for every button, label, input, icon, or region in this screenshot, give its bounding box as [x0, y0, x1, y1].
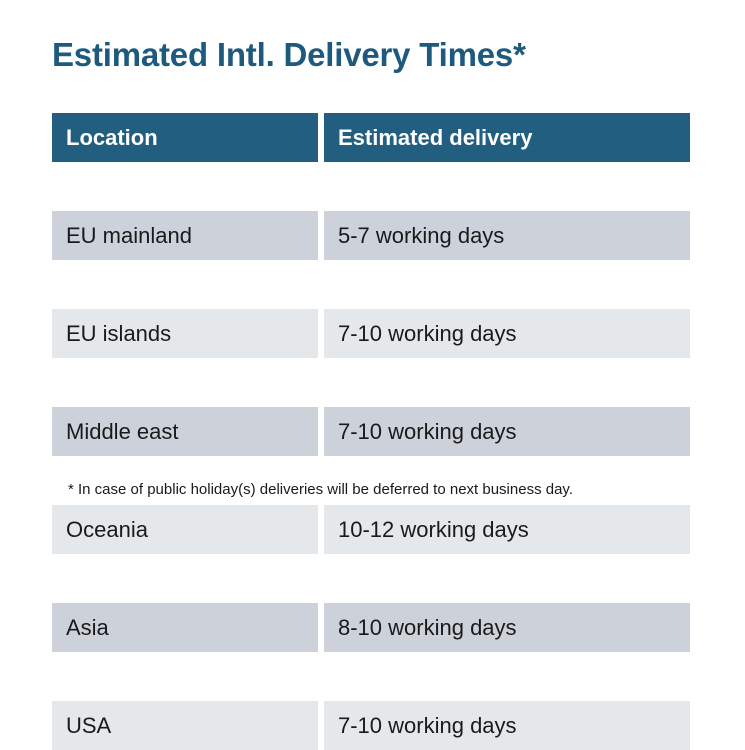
- page-title: Estimated Intl. Delivery Times*: [52, 36, 526, 74]
- cell-estimated-delivery: 7-10 working days: [324, 701, 690, 750]
- row-separator-cell: [52, 162, 690, 211]
- column-header-location: Location: [52, 113, 318, 162]
- row-separator: [52, 162, 690, 211]
- table-row: USA7-10 working days: [52, 701, 690, 750]
- cell-location: Middle east: [52, 407, 318, 456]
- row-separator: [52, 652, 690, 701]
- row-separator-cell: [52, 260, 690, 309]
- row-separator: [52, 358, 690, 407]
- table-header-row: Location Estimated delivery: [52, 113, 690, 162]
- column-header-estimated-delivery: Estimated delivery: [324, 113, 690, 162]
- table-header: Location Estimated delivery: [52, 113, 690, 162]
- cell-estimated-delivery: 5-7 working days: [324, 211, 690, 260]
- row-separator-cell: [52, 652, 690, 701]
- cell-location: Oceania: [52, 505, 318, 554]
- cell-estimated-delivery: 8-10 working days: [324, 603, 690, 652]
- cell-estimated-delivery: 10-12 working days: [324, 505, 690, 554]
- table-row: EU mainland5-7 working days: [52, 211, 690, 260]
- cell-estimated-delivery: 7-10 working days: [324, 407, 690, 456]
- table-row: EU islands7-10 working days: [52, 309, 690, 358]
- footnote-text: * In case of public holiday(s) deliverie…: [68, 481, 573, 498]
- table-row: Oceania10-12 working days: [52, 505, 690, 554]
- row-separator: [52, 554, 690, 603]
- row-separator-cell: [52, 358, 690, 407]
- cell-location: EU islands: [52, 309, 318, 358]
- table-row: Asia8-10 working days: [52, 603, 690, 652]
- cell-location: USA: [52, 701, 318, 750]
- delivery-times-page: Estimated Intl. Delivery Times* Location…: [0, 0, 745, 536]
- delivery-times-table: Location Estimated delivery EU mainland5…: [52, 113, 690, 750]
- cell-estimated-delivery: 7-10 working days: [324, 309, 690, 358]
- row-separator-cell: [52, 554, 690, 603]
- table-row: Middle east7-10 working days: [52, 407, 690, 456]
- row-separator: [52, 260, 690, 309]
- cell-location: Asia: [52, 603, 318, 652]
- cell-location: EU mainland: [52, 211, 318, 260]
- table-body: EU mainland5-7 working daysEU islands7-1…: [52, 162, 690, 750]
